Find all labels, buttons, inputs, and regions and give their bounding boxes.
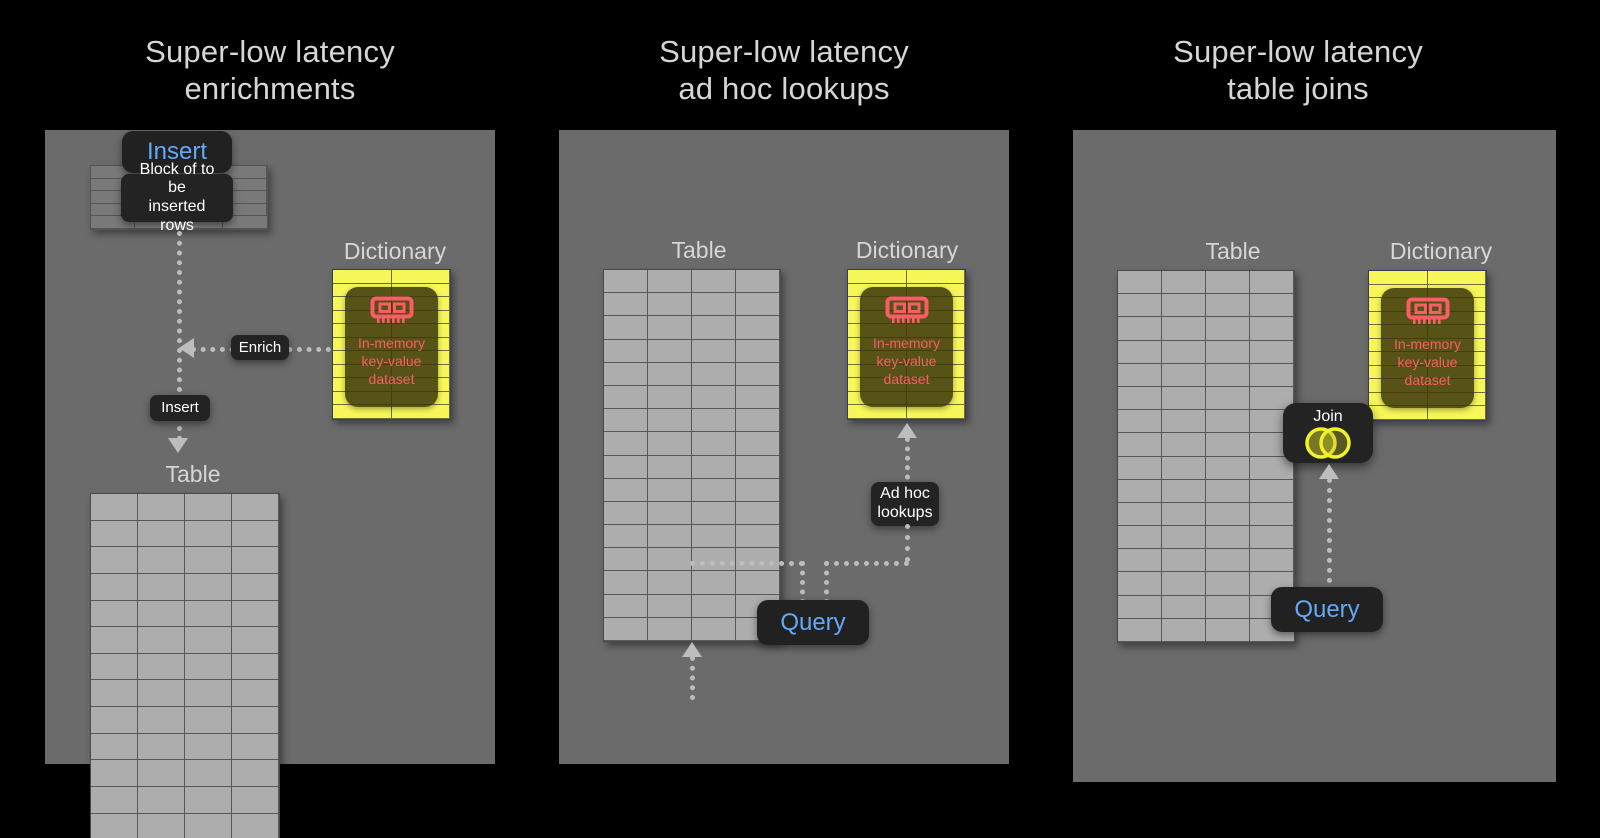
grid-cell (1206, 549, 1250, 572)
grid-cell (185, 814, 232, 838)
grid-cell (91, 680, 138, 707)
badge-insert-mid[interactable]: Insert (150, 395, 210, 421)
badge-block-of-rows[interactable]: Block of to be inserted rows (121, 174, 233, 222)
grid-cell (333, 270, 392, 284)
grid-cell (1206, 341, 1250, 364)
grid-cell (736, 479, 780, 502)
grid-cell (692, 293, 736, 316)
grid-cell (692, 386, 736, 409)
grid-cell (1118, 549, 1162, 572)
grid-cell (736, 548, 780, 571)
grid-cell (1206, 387, 1250, 410)
grid-cell (736, 270, 780, 293)
grid-cell (91, 654, 138, 681)
grid-cell (232, 787, 279, 814)
grid-cell (1206, 457, 1250, 480)
grid-cell (648, 340, 692, 363)
grid-cell (232, 574, 279, 601)
grid-cell (138, 654, 185, 681)
grid-cell (185, 680, 232, 707)
grid-cell (604, 525, 648, 548)
grid-cell (1250, 341, 1294, 364)
label-dictionary: Dictionary (817, 237, 997, 264)
grid-cell (91, 734, 138, 761)
grid-cell (1162, 410, 1206, 433)
grid-cell (604, 548, 648, 571)
grid-cell (1250, 526, 1294, 549)
grid-cell (1162, 503, 1206, 526)
grid-cell (1250, 294, 1294, 317)
grid-cell (692, 571, 736, 594)
grid-cell (1162, 457, 1206, 480)
grid-cell (1162, 294, 1206, 317)
grid-cell (138, 760, 185, 787)
grid-cell (1118, 271, 1162, 294)
grid-cell (185, 574, 232, 601)
connector-bus-left (690, 561, 804, 566)
grid-cell (1206, 572, 1250, 595)
grid-cell (138, 521, 185, 548)
grid-cell (1162, 549, 1206, 572)
badge-join[interactable]: Join (1283, 403, 1373, 463)
arrow-enrich-left (179, 338, 194, 358)
grid-cell (1206, 433, 1250, 456)
grid-cell (907, 405, 966, 419)
grid-cell (648, 409, 692, 432)
grid-cell (232, 601, 279, 628)
grid-cell (1162, 387, 1206, 410)
grid-cell (185, 707, 232, 734)
grid-cell (604, 363, 648, 386)
grid-cell (232, 760, 279, 787)
grid-cell (333, 405, 392, 419)
arrow-table-up (682, 642, 702, 657)
grid-cell (232, 521, 279, 548)
memory-card-dictionary: In-memory key-value dataset (1381, 288, 1474, 408)
grid-cell (692, 340, 736, 363)
grid-cell (1206, 619, 1250, 642)
grid-cell (648, 479, 692, 502)
grid-cell (648, 595, 692, 618)
grid-cell (648, 456, 692, 479)
grid-cell (138, 814, 185, 838)
grid-cell (692, 270, 736, 293)
connector-query-right-riser (824, 561, 829, 604)
grid-cell (1206, 503, 1250, 526)
grid-cell (604, 456, 648, 479)
grid-cell (604, 409, 648, 432)
label-table: Table (1138, 238, 1328, 265)
grid-cell (604, 386, 648, 409)
panel-enrichments: Insert Block of to be inserted rows Enri… (45, 130, 495, 764)
memory-card-dictionary: In-memory key-value dataset (860, 287, 953, 407)
grid-cell (692, 479, 736, 502)
connector-query-to-join (1327, 478, 1332, 593)
grid-cell (138, 547, 185, 574)
grid-cell (185, 627, 232, 654)
grid-cell (1428, 406, 1487, 420)
grid-cell (1118, 387, 1162, 410)
grid-cell (1162, 480, 1206, 503)
grid-cell (392, 270, 451, 284)
grid-cell (91, 760, 138, 787)
grid-cell (232, 707, 279, 734)
grid-cell (185, 494, 232, 521)
grid-cell (1250, 480, 1294, 503)
grid-cell (1250, 364, 1294, 387)
grid-cell (1162, 619, 1206, 642)
label-dictionary: Dictionary (1331, 238, 1551, 265)
grid-cell (604, 293, 648, 316)
grid-cell (907, 270, 966, 284)
grid-cell (648, 502, 692, 525)
connector-query-left-riser (800, 561, 805, 604)
grid-cell (1206, 364, 1250, 387)
table-grid (603, 269, 781, 642)
grid-cell (185, 760, 232, 787)
grid-cell (1118, 364, 1162, 387)
memory-chip-icon (1406, 297, 1450, 332)
grid-cell (1162, 271, 1206, 294)
grid-cell (91, 627, 138, 654)
grid-cell (91, 547, 138, 574)
grid-cell (648, 548, 692, 571)
grid-cell (1162, 596, 1206, 619)
grid-cell (692, 363, 736, 386)
grid-cell (1162, 364, 1206, 387)
memory-card-text: In-memory key-value dataset (358, 335, 425, 389)
memory-card-text: In-memory key-value dataset (873, 335, 940, 389)
grid-cell (736, 340, 780, 363)
badge-query[interactable]: Query (757, 600, 869, 645)
grid-cell (692, 525, 736, 548)
venn-join-icon (1297, 426, 1359, 465)
grid-cell (692, 618, 736, 641)
grid-cell (648, 618, 692, 641)
grid-cell (138, 734, 185, 761)
grid-cell (1206, 480, 1250, 503)
grid-cell (138, 574, 185, 601)
grid-cell (91, 494, 138, 521)
grid-cell (185, 654, 232, 681)
panel-title-table-joins: Super-low latency table joins (1073, 34, 1523, 107)
grid-cell (91, 814, 138, 838)
grid-cell (1118, 503, 1162, 526)
memory-card-text: In-memory key-value dataset (1394, 336, 1461, 390)
grid-cell (1250, 271, 1294, 294)
grid-cell (138, 494, 185, 521)
label-table: Table (103, 461, 283, 488)
grid-cell (648, 525, 692, 548)
grid-cell (648, 432, 692, 455)
grid-cell (692, 456, 736, 479)
grid-cell (232, 494, 279, 521)
badge-ad-hoc-lookups[interactable]: Ad hoc lookups (871, 482, 939, 526)
arrow-ad-hoc-up (897, 423, 917, 438)
diagram-canvas: Super-low latency enrichments Insert Blo… (0, 0, 1600, 838)
grid-cell (1162, 526, 1206, 549)
grid-cell (91, 787, 138, 814)
grid-cell (1118, 480, 1162, 503)
grid-cell (1206, 410, 1250, 433)
grid-cell (604, 479, 648, 502)
grid-cell (1428, 271, 1487, 285)
grid-cell (1118, 410, 1162, 433)
memory-chip-icon (885, 296, 929, 331)
grid-cell (692, 595, 736, 618)
grid-cell (185, 787, 232, 814)
grid-cell (138, 601, 185, 628)
join-label: Join (1313, 408, 1342, 426)
grid-cell (185, 521, 232, 548)
grid-cell (692, 432, 736, 455)
grid-cell (692, 548, 736, 571)
grid-cell (692, 409, 736, 432)
grid-cell (736, 386, 780, 409)
grid-cell (736, 432, 780, 455)
grid-cell (1118, 341, 1162, 364)
grid-cell (736, 293, 780, 316)
grid-cell (604, 502, 648, 525)
label-table: Table (604, 237, 794, 264)
grid-cell (736, 571, 780, 594)
grid-cell (1162, 317, 1206, 340)
grid-cell (648, 270, 692, 293)
grid-cell (604, 316, 648, 339)
memory-chip-icon (370, 296, 414, 331)
grid-cell (1118, 572, 1162, 595)
grid-cell (1206, 596, 1250, 619)
grid-cell (604, 571, 648, 594)
grid-cell (1118, 457, 1162, 480)
grid-cell (604, 270, 648, 293)
grid-cell (91, 601, 138, 628)
grid-cell (232, 680, 279, 707)
grid-cell (138, 627, 185, 654)
grid-cell (1250, 503, 1294, 526)
grid-cell (1250, 317, 1294, 340)
grid-cell (848, 405, 907, 419)
grid-cell (1118, 526, 1162, 549)
grid-cell (1206, 271, 1250, 294)
label-dictionary: Dictionary (305, 238, 485, 265)
grid-cell (692, 502, 736, 525)
grid-cell (91, 707, 138, 734)
grid-cell (736, 502, 780, 525)
table-grid (1117, 270, 1295, 643)
memory-card-dictionary: In-memory key-value dataset (345, 287, 438, 407)
grid-cell (232, 814, 279, 838)
connector-bus-right (824, 561, 909, 566)
grid-cell (91, 574, 138, 601)
grid-cell (604, 432, 648, 455)
table-grid (90, 493, 280, 838)
grid-cell (138, 680, 185, 707)
grid-cell (1369, 271, 1428, 285)
grid-cell (1162, 341, 1206, 364)
grid-cell (736, 456, 780, 479)
grid-cell (648, 386, 692, 409)
grid-cell (1118, 596, 1162, 619)
grid-cell (1118, 433, 1162, 456)
grid-cell (1206, 526, 1250, 549)
grid-cell (736, 525, 780, 548)
grid-cell (232, 654, 279, 681)
badge-enrich[interactable]: Enrich (231, 335, 289, 360)
grid-cell (1162, 433, 1206, 456)
panel-title-enrichments: Super-low latency enrichments (45, 34, 495, 107)
grid-cell (232, 627, 279, 654)
panel-ad-hoc-lookups: Table Dictionary (559, 130, 1009, 764)
grid-cell (648, 363, 692, 386)
grid-cell (185, 601, 232, 628)
grid-cell (1250, 549, 1294, 572)
grid-cell (1118, 317, 1162, 340)
grid-cell (604, 595, 648, 618)
grid-cell (1206, 294, 1250, 317)
grid-cell (692, 316, 736, 339)
grid-cell (736, 363, 780, 386)
grid-cell (648, 293, 692, 316)
arrow-join-up (1319, 464, 1339, 479)
grid-cell (138, 787, 185, 814)
grid-cell (392, 405, 451, 419)
grid-cell (648, 571, 692, 594)
grid-cell (604, 618, 648, 641)
panel-table-joins: Table Dictionary (1073, 130, 1556, 782)
grid-cell (1118, 619, 1162, 642)
grid-cell (648, 316, 692, 339)
connector-ad-hoc-vertical-bottom (905, 524, 910, 562)
grid-cell (232, 547, 279, 574)
grid-cell (1369, 406, 1428, 420)
grid-cell (1206, 317, 1250, 340)
panel-title-ad-hoc-lookups: Super-low latency ad hoc lookups (559, 34, 1009, 107)
grid-cell (736, 316, 780, 339)
grid-cell (1118, 294, 1162, 317)
badge-query[interactable]: Query (1271, 587, 1383, 632)
grid-cell (185, 547, 232, 574)
grid-cell (185, 734, 232, 761)
arrow-insert-down (168, 438, 188, 453)
grid-cell (736, 409, 780, 432)
grid-cell (1162, 572, 1206, 595)
grid-cell (604, 340, 648, 363)
grid-cell (848, 270, 907, 284)
grid-cell (138, 707, 185, 734)
grid-cell (91, 521, 138, 548)
connector-table-vertical (690, 656, 695, 700)
grid-cell (232, 734, 279, 761)
